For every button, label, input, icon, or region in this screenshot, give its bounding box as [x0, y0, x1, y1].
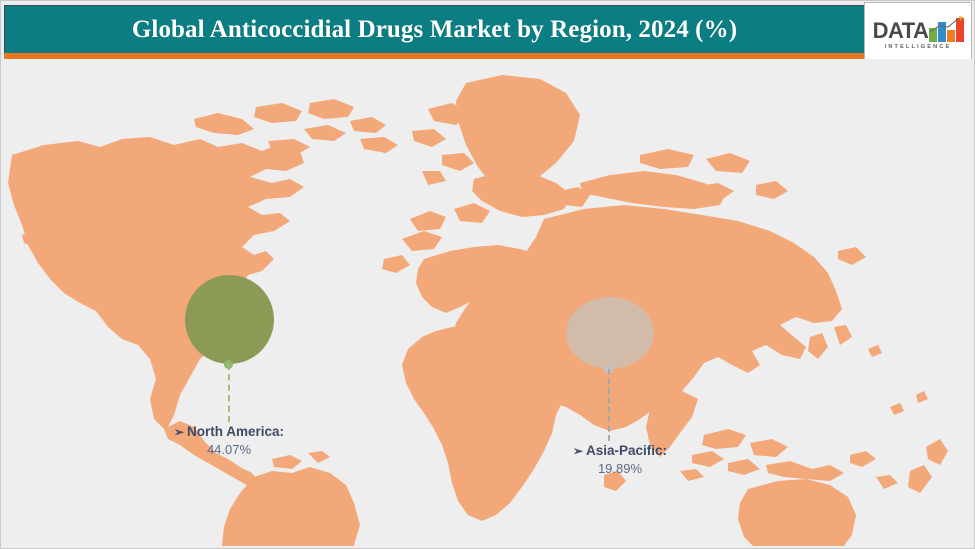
connector-line-north-america: [228, 364, 230, 422]
callout-label-asia-pacific: ➢Asia-Pacific:: [525, 443, 715, 458]
logo-wordmark: DATA: [873, 20, 929, 42]
callout-asia-pacific: ➢Asia-Pacific: 19.89%: [525, 443, 715, 476]
callout-north-america: ➢North America: 44.07%: [134, 424, 324, 457]
connector-line-asia-pacific: [608, 369, 610, 441]
bullet-arrow-icon: ➢: [174, 425, 184, 439]
page-title: Global Anticoccidial Drugs Market by Reg…: [132, 16, 737, 44]
logo-tagline: INTELLIGENCE: [885, 44, 952, 50]
infographic-frame: Global Anticoccidial Drugs Market by Reg…: [0, 0, 975, 549]
bubble-asia-pacific[interactable]: [566, 297, 654, 369]
world-map-stage: ➢North America: 44.07% ➢Asia-Pacific: 19…: [4, 59, 972, 546]
logo-row: DATA: [873, 16, 964, 42]
bullet-arrow-icon: ➢: [573, 444, 583, 458]
callout-label-north-america: ➢North America:: [134, 424, 324, 439]
bubble-north-america[interactable]: [185, 275, 274, 364]
map-landmasses: [8, 75, 948, 546]
brand-logo[interactable]: DATA INTELLIGENCE: [864, 2, 972, 63]
region-name-north-america: North America:: [187, 424, 284, 439]
region-value-north-america: 44.07%: [134, 442, 324, 457]
region-value-asia-pacific: 19.89%: [525, 461, 715, 476]
region-name-asia-pacific: Asia-Pacific:: [586, 443, 667, 458]
world-map: [4, 59, 972, 546]
header: Global Anticoccidial Drugs Market by Reg…: [4, 5, 972, 60]
header-title-bar: Global Anticoccidial Drugs Market by Reg…: [4, 5, 864, 53]
logo-bar-chart-icon: [929, 16, 963, 42]
